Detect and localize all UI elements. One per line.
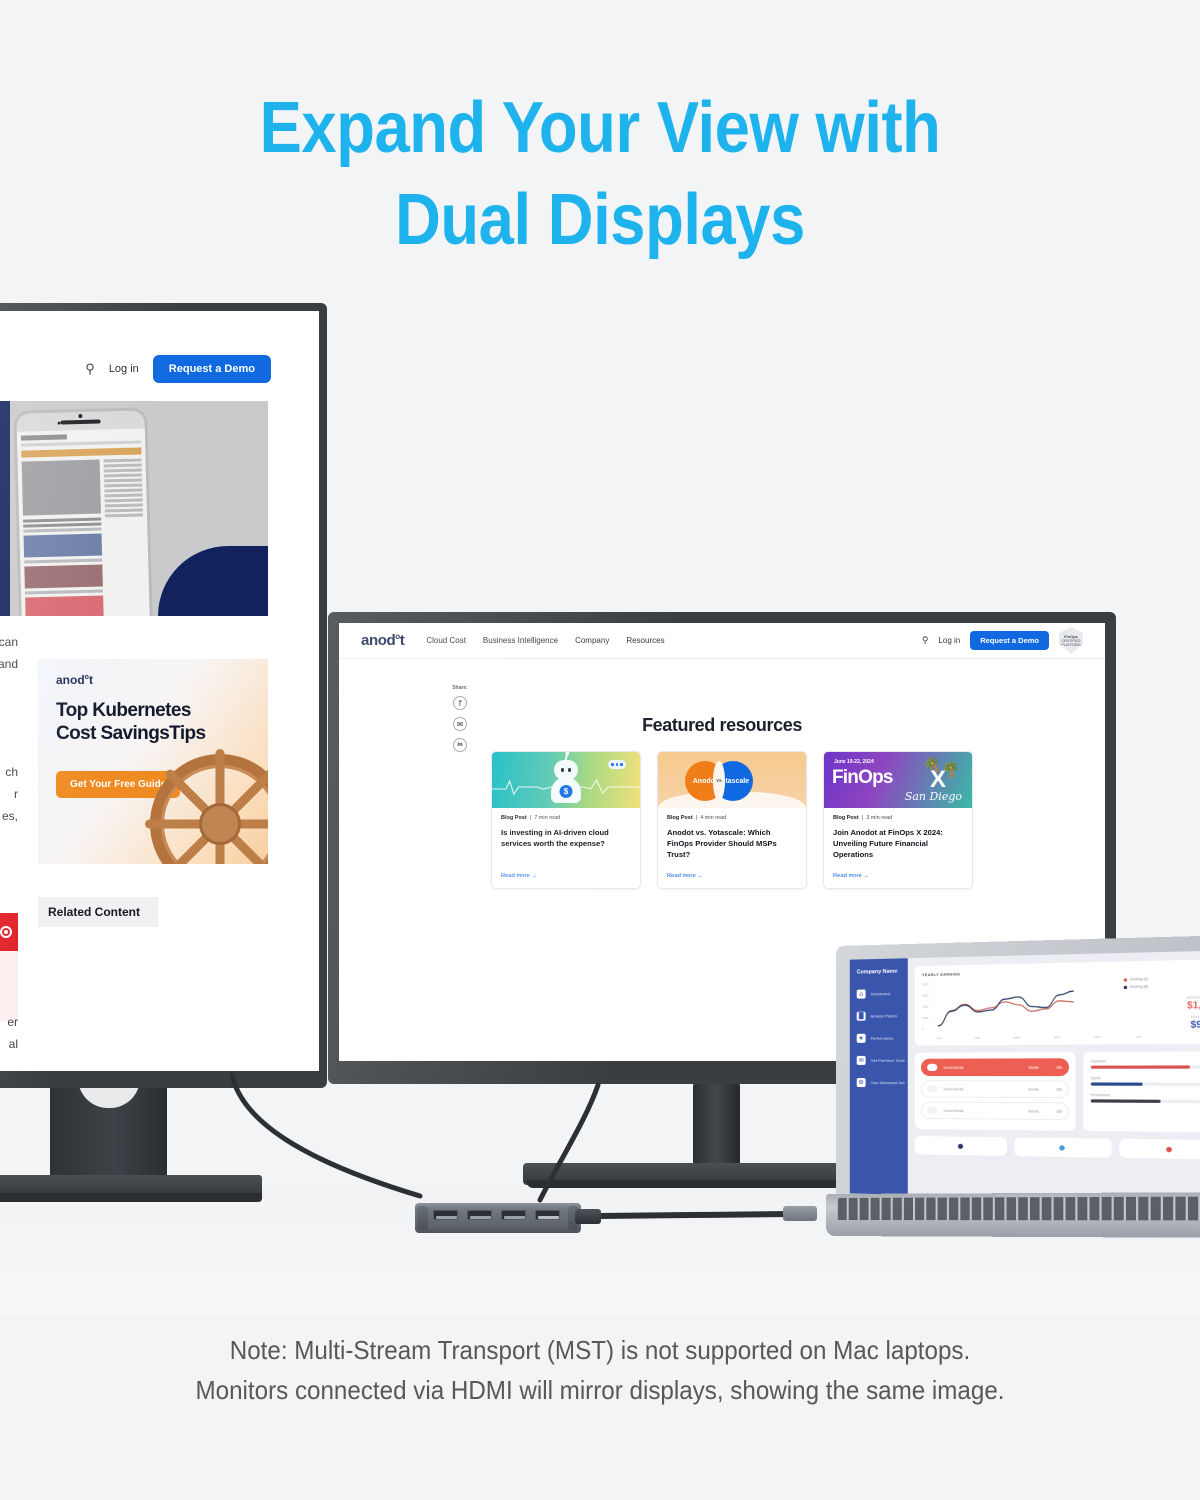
search-icon[interactable]: ⚲ (922, 635, 929, 646)
nav-links: Cloud Cost Business Intelligence Company… (426, 636, 664, 645)
list-cell-channel: Social Media (943, 1108, 963, 1112)
related-content-heading: Related Content (38, 897, 158, 927)
sidebar-item-advanced-set[interactable]: ⚙ Your Advanced Set (857, 1078, 901, 1087)
card-kind: Blog Post (501, 815, 527, 821)
phone-text-line (24, 559, 102, 564)
earnings-chart-card: YEARLY EARNING 5,000 4,000 3,000 2,000 0 (915, 959, 1200, 1045)
phone-text-line (104, 458, 142, 462)
anodot-logo[interactable]: anodot (361, 632, 404, 649)
star-icon: ★ (857, 1034, 866, 1043)
y-tick: 2,000 (922, 1017, 929, 1020)
venn-overlap-label: vs (713, 761, 725, 801)
bar-label: Sports (1090, 1076, 1200, 1080)
legend-entry: Earning (B) (1124, 984, 1149, 989)
list-cell-value: 380 (1056, 1065, 1062, 1069)
phone-text-line (25, 590, 103, 595)
list-cell-platform: Mobile (1028, 1065, 1039, 1069)
card-meta: Blog Post | 7 min read (501, 815, 631, 821)
toggle-switch[interactable] (927, 1107, 937, 1114)
list-cell-platform: Mobile (1028, 1087, 1039, 1091)
hub-port-row (433, 1210, 560, 1220)
list-cell-value: 380 (1056, 1087, 1062, 1091)
sidebar-item-browse-places[interactable]: █ Browse Places (857, 1011, 901, 1021)
article-red-callout (0, 913, 18, 951)
login-link[interactable]: Log in (109, 363, 139, 375)
card-body: Blog Post | 4 min read Anodot vs. Yotasc… (658, 808, 806, 888)
laptop: Company Name ⌂ Dashboard █ Browse Places… (826, 946, 1200, 1236)
sidebar-item-dashboard[interactable]: ⌂ Dashboard (857, 989, 901, 999)
dashboard-main: YEARLY EARNING 5,000 4,000 3,000 2,000 0 (908, 950, 1200, 1203)
nav-actions: ⚲ Log in Request a Demo FinOps CERTIFIED… (922, 627, 1083, 654)
legend-entry: Earning (A) (1124, 977, 1149, 982)
y-axis-ticks: 5,000 4,000 3,000 2,000 0 (922, 983, 929, 1039)
y-tick: 3,000 (922, 1006, 929, 1009)
list-cell-channel: Social Media (943, 1065, 963, 1069)
card-artwork-ai-robot: $ (492, 752, 640, 808)
left-monitor-screen: ⚲ Log in Request a Demo (0, 311, 319, 1071)
event-date: June 19-22, 2024 (834, 759, 874, 765)
chart-plot-area (936, 978, 1075, 1030)
phone-page-content (17, 428, 150, 616)
x-axis-ticks: JAN FEB MAR APR MAY JUN (936, 1036, 1141, 1041)
phone-site-banner (21, 447, 141, 457)
sidebar-item-label: Dashboard (871, 991, 891, 996)
bar-track (1090, 1082, 1200, 1085)
x-tick: APR (1054, 1036, 1060, 1039)
phone-text-line (104, 493, 142, 497)
card-read-time: 3 min read (866, 815, 892, 821)
nav-item-cloud-cost[interactable]: Cloud Cost (426, 636, 466, 645)
ad-anodot-logo: anodot (56, 673, 93, 687)
dashboard-second-row: Social Media Mobile 380 Social Media Mob… (915, 1051, 1200, 1132)
site-nav: anodot Cloud Cost Business Intelligence … (339, 623, 1105, 659)
phone-text-line (104, 468, 142, 472)
bar-track (1090, 1099, 1200, 1103)
right-monitor-stand-neck (693, 1082, 740, 1174)
y-tick: 4,000 (922, 994, 929, 997)
bar-label: Education (1090, 1059, 1200, 1064)
phone-text-line (23, 518, 101, 523)
sidebar-item-label: Your Advanced Set (871, 1080, 905, 1085)
palm-tree-icon: 🌴 (940, 758, 962, 779)
list-item[interactable]: Social Media Mobile 380 (921, 1058, 1069, 1076)
home-icon: ⌂ (857, 989, 866, 998)
read-more-link[interactable]: Read more → (501, 873, 631, 879)
usb-a-port[interactable] (501, 1210, 526, 1220)
kpi-monthly: MONTHLY $1, (1187, 995, 1200, 1010)
list-cell-value: 380 (1056, 1109, 1062, 1113)
phone-columns (22, 458, 146, 616)
card-body: Blog Post | 7 min read Is investing in A… (492, 808, 640, 888)
event-name: FinOps (832, 767, 893, 789)
usb-a-port[interactable] (433, 1210, 458, 1220)
x-tick: JUN (1136, 1036, 1142, 1039)
laptop-screen: Company Name ⌂ Dashboard █ Browse Places… (850, 950, 1200, 1203)
phone-site-menu (21, 440, 141, 446)
phone-thumbnail (24, 565, 103, 589)
article-hero-image (0, 401, 268, 616)
list-cell-platform: Mobile (1028, 1109, 1039, 1113)
phone-text-line (104, 483, 142, 487)
finops-certified-badge: FinOps CERTIFIED PLATFORM (1059, 627, 1083, 654)
bar-track (1090, 1065, 1200, 1068)
x-tick: JAN (936, 1037, 941, 1040)
kpi-value: $9, (1191, 1019, 1200, 1030)
read-more-link[interactable]: Read more → (833, 873, 963, 879)
dashboard-brand: Company Name (857, 969, 901, 976)
x-tick: MAY (1094, 1036, 1100, 1039)
phone-text-line (104, 463, 142, 467)
resource-card[interactable]: $ Blog Post | 7 min read Is investing in… (491, 751, 641, 889)
earnings-line-chart: 5,000 4,000 3,000 2,000 0 JAN FEB (922, 976, 1200, 1039)
card-kind: Blog Post (833, 815, 859, 821)
ad-title-line-1: Top Kubernetes (56, 700, 191, 721)
analytics-dashboard: Company Name ⌂ Dashboard █ Browse Places… (850, 950, 1200, 1203)
usb-a-port[interactable] (535, 1210, 560, 1220)
dashboard-third-row (915, 1136, 1200, 1160)
facebook-icon[interactable]: f (453, 696, 467, 710)
phone-text-line (104, 478, 142, 482)
card-artwork-finops-x: June 19-22, 2024 FinOps X 🌴 🌴 San Diego (824, 752, 972, 808)
resource-card[interactable]: Anodot Yotascale vs Blog Post | 4 min re… (657, 751, 807, 889)
usb-c-connector (783, 1206, 817, 1221)
card-title: Join Anodot at FinOps X 2024: Unveiling … (833, 827, 963, 861)
left-monitor-website: ⚲ Log in Request a Demo (0, 311, 319, 1071)
left-monitor: ⚲ Log in Request a Demo (0, 303, 327, 1088)
event-city: San Diego (905, 790, 962, 803)
article-text-fragment: es, (0, 805, 18, 827)
hero-navy-curve (158, 546, 268, 616)
mail-icon: ✉ (857, 1056, 866, 1065)
settings-icon: ⚙ (857, 1078, 866, 1087)
phone-text-line (23, 528, 101, 533)
channel-list-card: Social Media Mobile 380 Social Media Mob… (915, 1052, 1075, 1131)
laptop-base (826, 1192, 1200, 1238)
list-item[interactable]: Social Media Mobile 380 (921, 1080, 1069, 1098)
y-tick: 0 (922, 1028, 929, 1031)
toggle-switch[interactable] (927, 1064, 937, 1071)
ships-wheel-illustration (150, 754, 268, 864)
note-line-1: Note: Multi-Stream Transport (MST) is no… (42, 1330, 1158, 1370)
phone-text-line (105, 498, 143, 502)
bar-label: Performance (1090, 1093, 1200, 1098)
phone-text-line (104, 488, 142, 492)
y-tick: 5,000 (922, 983, 929, 986)
kpi-value: $1, (1187, 1000, 1200, 1011)
mini-stat-card (1119, 1139, 1200, 1160)
resource-card-list: $ Blog Post | 7 min read Is investing in… (491, 751, 973, 889)
read-more-link[interactable]: Read more → (667, 873, 797, 879)
card-kind: Blog Post (667, 815, 693, 821)
nav-item-company[interactable]: Company (575, 636, 609, 645)
article-text-fragment: r (0, 783, 18, 805)
phone-camera-dot (78, 414, 82, 418)
product-scene: ⚲ Log in Request a Demo (0, 0, 1200, 1500)
card-title: Anodot vs. Yotascale: Which FinOps Provi… (667, 827, 797, 861)
kpi-total: TOTAL $9, (1191, 1015, 1200, 1030)
chat-bubble-icon (608, 760, 626, 769)
featured-resources-heading: Featured resources (339, 715, 1105, 736)
hub-left-cap (417, 1206, 428, 1230)
hub-cable-connector (575, 1209, 601, 1224)
share-label: Share: (447, 685, 473, 691)
dollar-coin-icon: $ (560, 785, 573, 798)
phone-site-title (21, 434, 67, 440)
legend-label: Earning (B) (1130, 984, 1148, 989)
sidebar-ad[interactable]: anodot Top Kubernetes Cost SavingsTips G… (38, 659, 268, 864)
phone-text-line (105, 513, 143, 517)
phone-speaker (61, 420, 101, 425)
x-tick: MAR (1013, 1037, 1019, 1040)
ad-title-line-2: Cost SavingsTips (56, 723, 205, 744)
nav-item-business-intelligence[interactable]: Business Intelligence (483, 636, 558, 645)
sidebar-item-performance[interactable]: ★ Performance (857, 1033, 901, 1042)
laptop-keyboard (838, 1197, 1200, 1221)
x-tick: FEB (974, 1037, 979, 1040)
mini-stat-card (1015, 1137, 1111, 1157)
sidebar-item-label: Browse Places (871, 1013, 898, 1018)
resource-card[interactable]: June 19-22, 2024 FinOps X 🌴 🌴 San Diego … (823, 751, 973, 889)
hero-navy-panel (0, 401, 10, 616)
sidebar-item-label: Performance (871, 1036, 894, 1041)
phone-text-line (105, 508, 143, 512)
phone-text-line (105, 503, 143, 507)
sidebar-item-label: Get Premium Tools (871, 1058, 905, 1063)
phone-side-column (104, 458, 146, 616)
card-read-time: 7 min read (534, 815, 560, 821)
card-meta: Blog Post | 3 min read (833, 815, 963, 821)
circle-icon (0, 926, 12, 938)
ad-title: Top Kubernetes Cost SavingsTips (56, 699, 231, 745)
usb-c-hub (415, 1203, 581, 1233)
left-site-nav: ⚲ Log in Request a Demo (85, 355, 319, 383)
phone-text-line (23, 523, 101, 528)
phone-mockup (13, 407, 153, 616)
footer-note: Note: Multi-Stream Transport (MST) is no… (42, 1330, 1158, 1410)
article-text-fragment: ch (0, 761, 18, 783)
list-cell-channel: Social Media (943, 1087, 963, 1091)
usb-a-port[interactable] (467, 1210, 492, 1220)
legend-label: Earning (A) (1130, 977, 1148, 982)
sidebar-item-premium-tools[interactable]: ✉ Get Premium Tools (857, 1056, 901, 1065)
linkedin-icon[interactable]: in (453, 738, 467, 752)
nav-item-resources[interactable]: Resources (626, 636, 664, 645)
card-title: Is investing in AI-driven cloud services… (501, 827, 631, 861)
article-text-fragment: al (0, 1033, 18, 1055)
login-link[interactable]: Log in (938, 636, 960, 645)
request-demo-button[interactable]: Request a Demo (153, 355, 271, 383)
list-item[interactable]: Social Media Mobile 380 (921, 1102, 1069, 1121)
article-text-fragment: er (0, 1011, 18, 1033)
laptop-lid: Company Name ⌂ Dashboard █ Browse Places… (836, 935, 1200, 1212)
phone-thumbnail (25, 596, 104, 616)
toggle-switch[interactable] (927, 1085, 937, 1092)
card-read-time: 4 min read (700, 815, 726, 821)
phone-main-column (22, 460, 104, 616)
article-text-fragment: and (0, 653, 18, 675)
note-line-2: Monitors connected via HDMI will mirror … (42, 1370, 1158, 1410)
progress-bars-card: Education Sports Performance (1083, 1051, 1200, 1132)
article-text-fragment: can (0, 631, 18, 653)
left-monitor-base (0, 1175, 262, 1199)
bar-chart-icon: █ (857, 1012, 866, 1021)
phone-text-line (104, 473, 142, 477)
mini-stat-card (915, 1136, 1007, 1156)
phone-thumbnail (24, 534, 103, 558)
card-meta: Blog Post | 4 min read (667, 815, 797, 821)
chart-legend: Earning (A) Earning (B) (1124, 977, 1149, 992)
card-artwork-venn: Anodot Yotascale vs (658, 752, 806, 808)
badge-subtitle: CERTIFIED PLATFORM (1059, 639, 1083, 648)
request-demo-button[interactable]: Request a Demo (970, 631, 1049, 650)
phone-article-image (22, 460, 101, 516)
card-body: Blog Post | 3 min read Join Anodot at Fi… (824, 808, 972, 888)
dashboard-sidebar: Company Name ⌂ Dashboard █ Browse Places… (850, 958, 908, 1195)
search-icon[interactable]: ⚲ (85, 361, 95, 377)
